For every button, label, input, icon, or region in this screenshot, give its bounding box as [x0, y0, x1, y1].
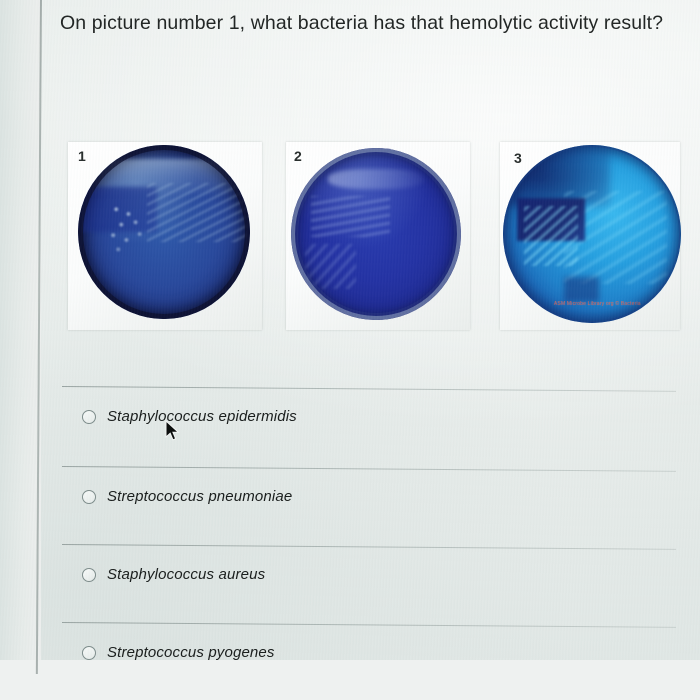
radio-button-icon-4[interactable] — [82, 646, 96, 660]
agar-plate-1[interactable] — [78, 145, 250, 319]
answer-option-1[interactable]: Staphylococcus epidermidis — [62, 386, 676, 464]
agar-plate-3[interactable]: ASM Microbe Library org © Bacteria — [503, 145, 681, 323]
option-separator — [62, 466, 676, 472]
figure-number-1: 1 — [78, 148, 86, 164]
answer-option-2[interactable]: Streptococcus pneumoniae — [62, 466, 676, 544]
answer-option-label-2: Streptococcus pneumoniae — [107, 488, 292, 505]
plate1-rim — [78, 145, 250, 319]
plate2-rim — [291, 148, 461, 320]
radio-button-icon-2[interactable] — [82, 490, 96, 504]
figure-strip: 1 2 3 ASM Microbe Library org © Bacteria — [0, 138, 700, 338]
radio-button-icon-3[interactable] — [82, 568, 96, 582]
figure-number-3: 3 — [514, 150, 522, 166]
answer-option-label-1: Staphylococcus epidermidis — [107, 408, 297, 425]
answer-option-4[interactable]: Streptococcus pyogenes — [62, 622, 676, 700]
answer-option-3[interactable]: Staphylococcus aureus — [62, 544, 676, 622]
option-separator — [62, 386, 676, 392]
figure-number-2: 2 — [294, 148, 302, 164]
answer-option-label-3: Staphylococcus aureus — [107, 566, 265, 583]
plate3-rim — [503, 145, 681, 323]
option-separator — [62, 622, 676, 628]
option-separator — [62, 544, 676, 550]
answer-option-label-4: Streptococcus pyogenes — [107, 644, 275, 661]
agar-plate-2[interactable] — [291, 148, 461, 320]
question-text: On picture number 1, what bacteria has t… — [60, 8, 675, 39]
radio-button-icon-1[interactable] — [82, 410, 96, 424]
